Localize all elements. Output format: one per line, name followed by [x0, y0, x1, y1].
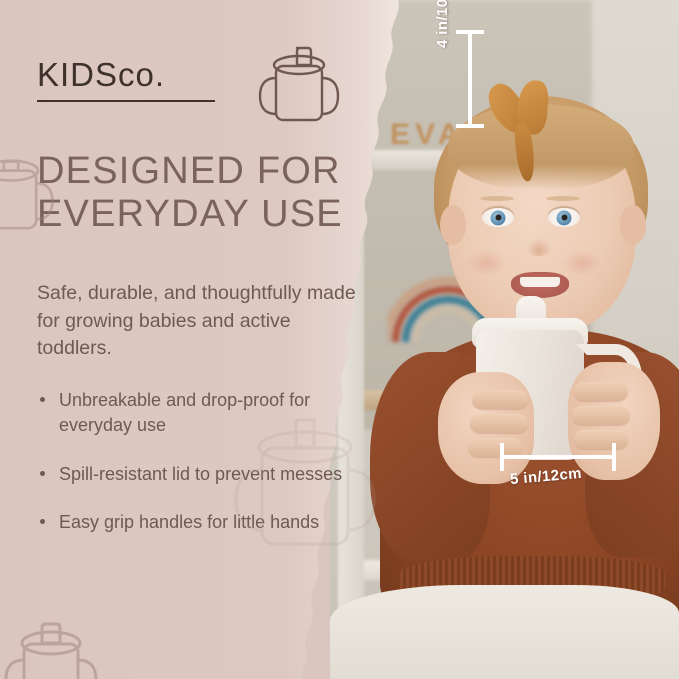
brand-logo-underline: [37, 100, 215, 102]
finger: [470, 414, 528, 433]
sippy-cup-icon: [232, 400, 382, 560]
sippy-cup-icon: [4, 608, 104, 679]
finger: [472, 390, 528, 409]
child-ear-right: [620, 205, 646, 245]
child-eyebrow-right: [546, 196, 580, 201]
pupil: [495, 215, 501, 221]
page-title: DESIGNED FOR EVERYDAY USE: [37, 150, 377, 235]
sippy-cup-icon: [254, 38, 350, 134]
brand-logo-text: KIDSco.: [37, 58, 215, 91]
child-hand-left: [438, 372, 534, 484]
child-eye-left: [482, 208, 514, 227]
child-mouth: [511, 272, 569, 298]
finger: [574, 430, 628, 449]
child-eyebrow-left: [480, 196, 514, 201]
child-teeth: [520, 277, 560, 287]
product-feature-graphic: EVA: [0, 0, 679, 679]
child-eye-right: [548, 208, 580, 227]
sippy-cup-icon: [0, 140, 56, 236]
width-measure-bar: [500, 455, 616, 459]
iris: [557, 210, 572, 225]
headline-line-1: DESIGNED FOR: [37, 150, 377, 193]
text-panel: KIDSco. DESIGNED FOR EVERYDAY USE Safe, …: [0, 0, 400, 679]
finger: [574, 382, 628, 401]
height-measure-bar: [468, 30, 472, 128]
subtitle-text: Safe, durable, and thoughtfully made for…: [37, 280, 367, 363]
iris: [491, 210, 506, 225]
headline-line-2: EVERYDAY USE: [37, 193, 377, 236]
finger: [572, 406, 630, 425]
brand-logo[interactable]: KIDSco.: [37, 58, 215, 102]
child-ear-left: [440, 205, 466, 245]
child-cheek-right: [562, 250, 602, 276]
child-cheek-left: [466, 250, 506, 276]
pupil: [561, 215, 567, 221]
child-nose: [526, 238, 552, 256]
